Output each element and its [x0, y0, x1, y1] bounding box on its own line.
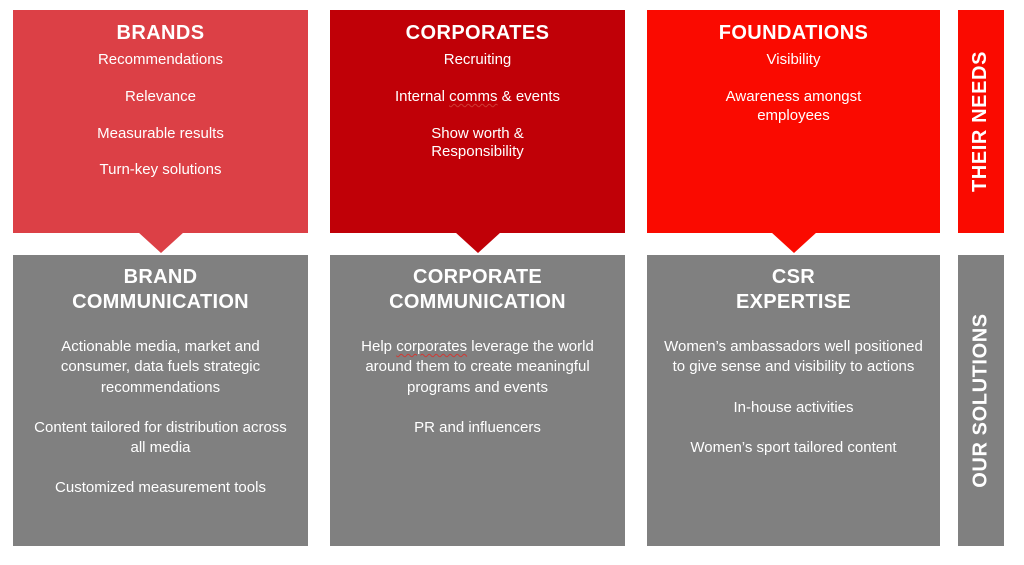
- list-item: Women’s sport tailored content: [655, 438, 932, 458]
- solutions-panel-brand-communication-list: Actionable media, market and consumer, d…: [21, 337, 300, 499]
- list-item: Women’s ambassadors well positioned to g…: [655, 337, 932, 378]
- solutions-panel-brand-communication: BRAND COMMUNICATION Actionable media, ma…: [13, 255, 308, 546]
- list-item: Recruiting: [340, 51, 615, 70]
- list-item-misspelled: Help corporates leverage the world aroun…: [338, 337, 617, 398]
- needs-panel-corporates-title: CORPORATES: [340, 22, 615, 45]
- solutions-panel-csr-expertise: CSR EXPERTISE Women’s ambassadors well p…: [647, 255, 940, 546]
- solutions-panel-corporate-communication: CORPORATE COMMUNICATION Help corporates …: [330, 255, 625, 546]
- arrow-down-icon-brands: [138, 232, 184, 253]
- rail-their-needs-label: THEIR NEEDS: [970, 51, 993, 192]
- solutions-panel-corporate-communication-list: Help corporates leverage the world aroun…: [338, 337, 617, 438]
- list-item: Actionable media, market and consumer, d…: [21, 337, 300, 398]
- text-prefix: Help: [361, 338, 396, 355]
- needs-panel-corporates-list: Recruiting Internal comms & events Show …: [340, 51, 615, 162]
- rail-our-solutions: OUR SOLUTIONS: [958, 255, 1004, 546]
- list-item: Content tailored for distribution across…: [21, 418, 300, 459]
- text-prefix: Internal: [395, 88, 449, 105]
- list-item: Show worth & Responsibility: [340, 125, 615, 163]
- arrow-down-icon-corporates: [455, 232, 501, 253]
- needs-panel-brands: BRANDS Recommendations Relevance Measura…: [13, 10, 308, 233]
- needs-panel-brands-title: BRANDS: [23, 22, 298, 45]
- list-item: Relevance: [23, 88, 298, 107]
- solutions-panel-corporate-communication-title: CORPORATE COMMUNICATION: [338, 265, 617, 315]
- needs-panel-brands-list: Recommendations Relevance Measurable res…: [23, 51, 298, 180]
- needs-panel-foundations-title: FOUNDATIONS: [657, 22, 930, 45]
- spellcheck-word: corporates: [396, 338, 467, 355]
- list-item: Awareness amongst employees: [657, 88, 930, 126]
- list-item: Recommendations: [23, 51, 298, 70]
- list-item: Visibility: [657, 51, 930, 70]
- needs-panel-corporates: CORPORATES Recruiting Internal comms & e…: [330, 10, 625, 233]
- solutions-panel-csr-expertise-list: Women’s ambassadors well positioned to g…: [655, 337, 932, 458]
- diagram-canvas: BRANDS Recommendations Relevance Measura…: [0, 0, 1024, 565]
- text-suffix: & events: [498, 88, 561, 105]
- rail-our-solutions-label: OUR SOLUTIONS: [970, 313, 993, 487]
- needs-panel-foundations: FOUNDATIONS Visibility Awareness amongst…: [647, 10, 940, 233]
- spellcheck-word: comms: [449, 88, 497, 105]
- arrow-down-icon-foundations: [771, 232, 817, 253]
- list-item-misspelled: Internal comms & events: [340, 88, 615, 107]
- list-item: Customized measurement tools: [21, 478, 300, 498]
- list-item: Measurable results: [23, 125, 298, 144]
- list-item: PR and influencers: [338, 418, 617, 438]
- solutions-panel-csr-expertise-title: CSR EXPERTISE: [655, 265, 932, 315]
- solutions-panel-brand-communication-title: BRAND COMMUNICATION: [21, 265, 300, 315]
- rail-their-needs: THEIR NEEDS: [958, 10, 1004, 233]
- list-item: In-house activities: [655, 398, 932, 418]
- needs-panel-foundations-list: Visibility Awareness amongst employees: [657, 51, 930, 125]
- list-item: Turn-key solutions: [23, 161, 298, 180]
